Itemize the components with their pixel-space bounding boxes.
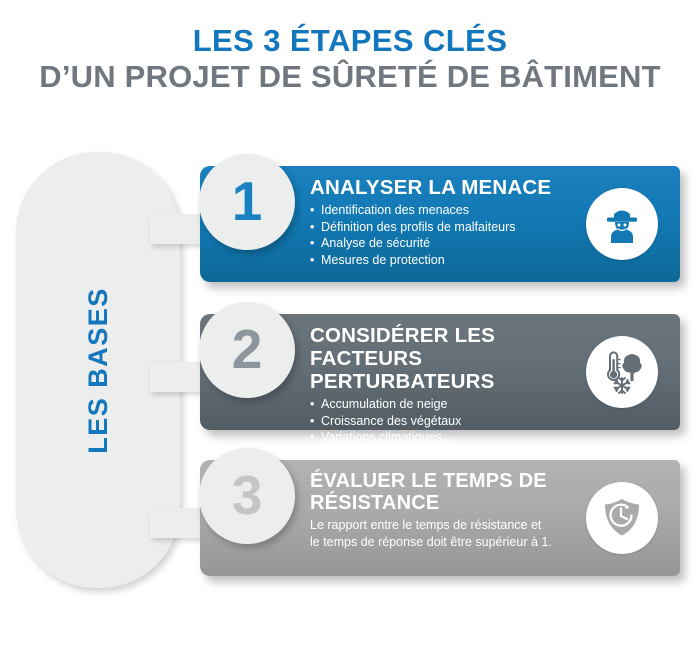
step-content-2: CONSIDÉRER LES FACTEURS PERTURBATEURS Ac… (310, 324, 575, 446)
burglar-icon (599, 201, 645, 247)
step-card-1[interactable]: 1 ANALYSER LA MENACE Identification des … (200, 166, 680, 282)
step-number-badge-2: 2 (199, 302, 295, 398)
step-content-1: ANALYSER LA MENACE Identification des me… (310, 176, 575, 268)
step-number-3: 3 (232, 468, 263, 523)
step-number-badge-3: 3 (199, 448, 295, 544)
step-note-line: le temps de réponse doit être supérieur … (310, 534, 575, 551)
step-bullet-list-2: Accumulation de neige Croissance des vég… (310, 396, 575, 446)
tree-icon (622, 354, 642, 381)
list-item: Analyse de sécurité (310, 235, 575, 252)
list-item: Définition des profils de malfaiteurs (310, 219, 575, 236)
step-icon-bubble-3 (586, 482, 658, 554)
step-heading-3: ÉVALUER LE TEMPS DE RÉSISTANCE (310, 470, 575, 514)
step-number-1: 1 (232, 174, 263, 229)
list-item: Variations climatiques... (310, 429, 575, 446)
page-title: LES 3 ÉTAPES CLÉS D’UN PROJET DE SÛRETÉ … (0, 24, 700, 96)
base-panel-label: LES BASES (83, 287, 114, 454)
title-line-2: D’UN PROJET DE SÛRETÉ DE BÂTIMENT (0, 58, 700, 96)
snowflake-icon (615, 378, 630, 393)
step-number-badge-1: 1 (199, 154, 295, 250)
list-item: Croissance des végétaux (310, 413, 575, 430)
list-item: Identification des menaces (310, 202, 575, 219)
list-item: Mesures de protection (310, 252, 575, 269)
weather-icon (598, 348, 646, 396)
list-item: Accumulation de neige (310, 396, 575, 413)
shield-clock-icon (599, 495, 645, 541)
step-bullet-list-1: Identification des menaces Définition de… (310, 202, 575, 268)
step-note-line: Le rapport entre le temps de résistance … (310, 517, 575, 534)
step-icon-bubble-2 (586, 336, 658, 408)
step-number-2: 2 (232, 322, 263, 377)
title-line-1: LES 3 ÉTAPES CLÉS (0, 24, 700, 58)
step-content-3: ÉVALUER LE TEMPS DE RÉSISTANCE Le rappor… (310, 470, 575, 551)
step-heading-2: CONSIDÉRER LES FACTEURS PERTURBATEURS (310, 324, 575, 393)
step-icon-bubble-1 (586, 188, 658, 260)
thermometer-icon (608, 352, 621, 379)
step-card-3[interactable]: 3 ÉVALUER LE TEMPS DE RÉSISTANCE Le rapp… (200, 460, 680, 576)
step-note-3: Le rapport entre le temps de résistance … (310, 517, 575, 551)
step-card-2[interactable]: 2 CONSIDÉRER LES FACTEURS PERTURBATEURS … (200, 314, 680, 430)
step-heading-1: ANALYSER LA MENACE (310, 176, 575, 199)
